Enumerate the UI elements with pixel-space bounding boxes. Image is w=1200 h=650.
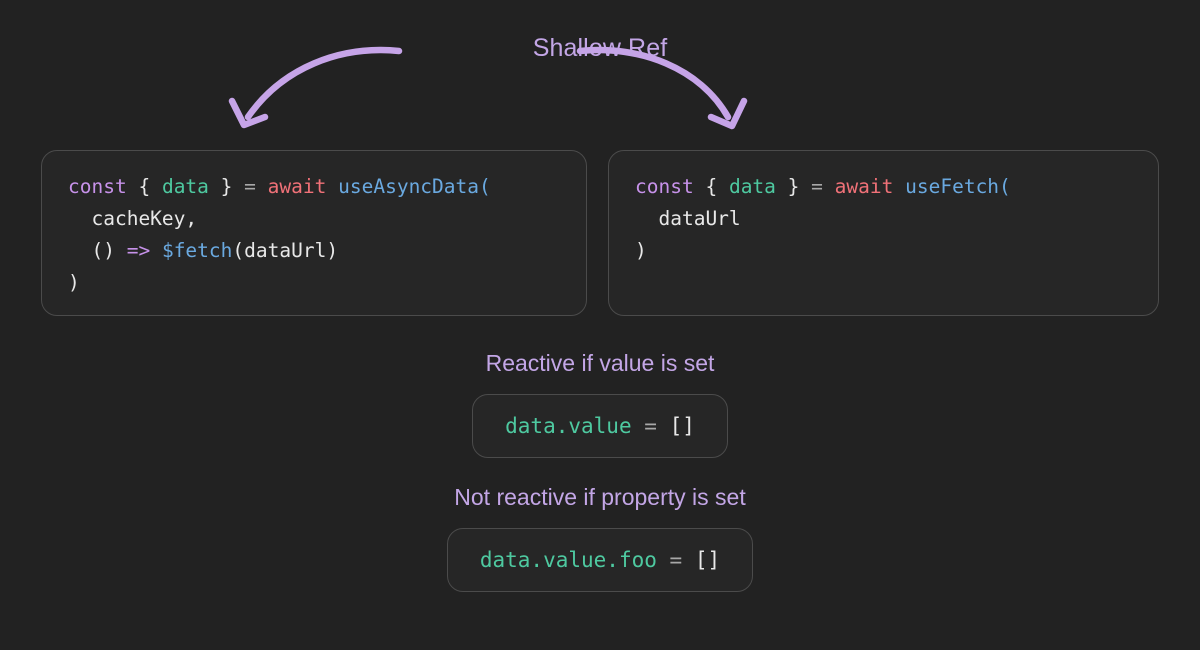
code-block-use-async-data: const { data } = await useAsyncData( cac…: [68, 171, 560, 299]
code-token: [694, 175, 706, 198]
code-token: data: [480, 548, 531, 572]
notes-section: Reactive if value is set data.value = []…: [0, 352, 1200, 592]
code-token: []: [670, 414, 695, 438]
code-token: }: [788, 175, 800, 198]
arrow-to-usefetch: [580, 50, 744, 126]
code-token: {: [705, 175, 717, 198]
code-token: =: [670, 548, 683, 572]
code-token: [326, 175, 338, 198]
code-token: [209, 175, 221, 198]
code-token: [127, 175, 139, 198]
code-token: value: [543, 548, 606, 572]
code-reactive-value: data.value = []: [505, 414, 695, 438]
code-block-use-fetch: const { data } = await useFetch( dataUrl…: [635, 171, 1132, 267]
code-token: [150, 175, 162, 198]
diagram-canvas: Shallow Ref const { data } = await useAs…: [0, 0, 1200, 650]
code-token: [893, 175, 905, 198]
code-token: [150, 239, 162, 262]
code-token: }: [221, 175, 233, 198]
code-token: =: [811, 175, 823, 198]
code-token: ): [68, 271, 80, 294]
code-token: [717, 175, 729, 198]
code-token: =: [244, 175, 256, 198]
code-not-reactive-property: data.value.foo = []: [480, 548, 720, 572]
code-token: (dataUrl): [232, 239, 338, 262]
code-token: =: [644, 414, 657, 438]
note-caption-reactive-value: Reactive if value is set: [0, 352, 1200, 375]
code-token: data: [505, 414, 556, 438]
code-token: useAsyncData(: [338, 175, 491, 198]
code-token: (): [68, 239, 115, 262]
code-token: [682, 548, 695, 572]
note-not-reactive-property: Not reactive if property is set data.val…: [0, 486, 1200, 592]
arrow-to-useasyncdata: [232, 50, 399, 125]
code-token: value: [568, 414, 631, 438]
note-reactive-value: Reactive if value is set data.value = []: [0, 352, 1200, 458]
code-box-not-reactive-property: data.value.foo = []: [447, 528, 753, 592]
code-token: $fetch: [162, 239, 232, 262]
code-token: data: [729, 175, 776, 198]
code-box-reactive-value: data.value = []: [472, 394, 728, 458]
code-token: [823, 175, 835, 198]
code-token: dataUrl: [635, 207, 741, 230]
code-token: {: [138, 175, 150, 198]
code-token: [776, 175, 788, 198]
code-token: .: [530, 548, 543, 572]
code-token: useFetch(: [905, 175, 1011, 198]
code-token: [232, 175, 244, 198]
code-token: [799, 175, 811, 198]
code-token: data: [162, 175, 209, 198]
code-card-use-async-data: const { data } = await useAsyncData( cac…: [41, 150, 587, 316]
note-caption-not-reactive-property: Not reactive if property is set: [0, 486, 1200, 509]
code-token: []: [695, 548, 720, 572]
code-token: await: [268, 175, 327, 198]
code-token: [256, 175, 268, 198]
code-token: cacheKey,: [68, 207, 197, 230]
code-token: const: [68, 175, 127, 198]
code-token: ): [635, 239, 647, 262]
shallow-ref-annotation: Shallow Ref: [0, 0, 1200, 150]
code-token: [657, 548, 670, 572]
arrows-svg: [0, 0, 1200, 150]
code-token: =>: [127, 239, 150, 262]
code-token: const: [635, 175, 694, 198]
code-token: await: [835, 175, 894, 198]
code-token: [115, 239, 127, 262]
code-token: [657, 414, 670, 438]
code-card-use-fetch: const { data } = await useFetch( dataUrl…: [608, 150, 1159, 316]
shallow-ref-label: Shallow Ref: [0, 36, 1200, 61]
code-cards-row: const { data } = await useAsyncData( cac…: [41, 150, 1159, 316]
code-token: [632, 414, 645, 438]
code-token: .: [556, 414, 569, 438]
code-token: .: [606, 548, 619, 572]
code-token: foo: [619, 548, 657, 572]
